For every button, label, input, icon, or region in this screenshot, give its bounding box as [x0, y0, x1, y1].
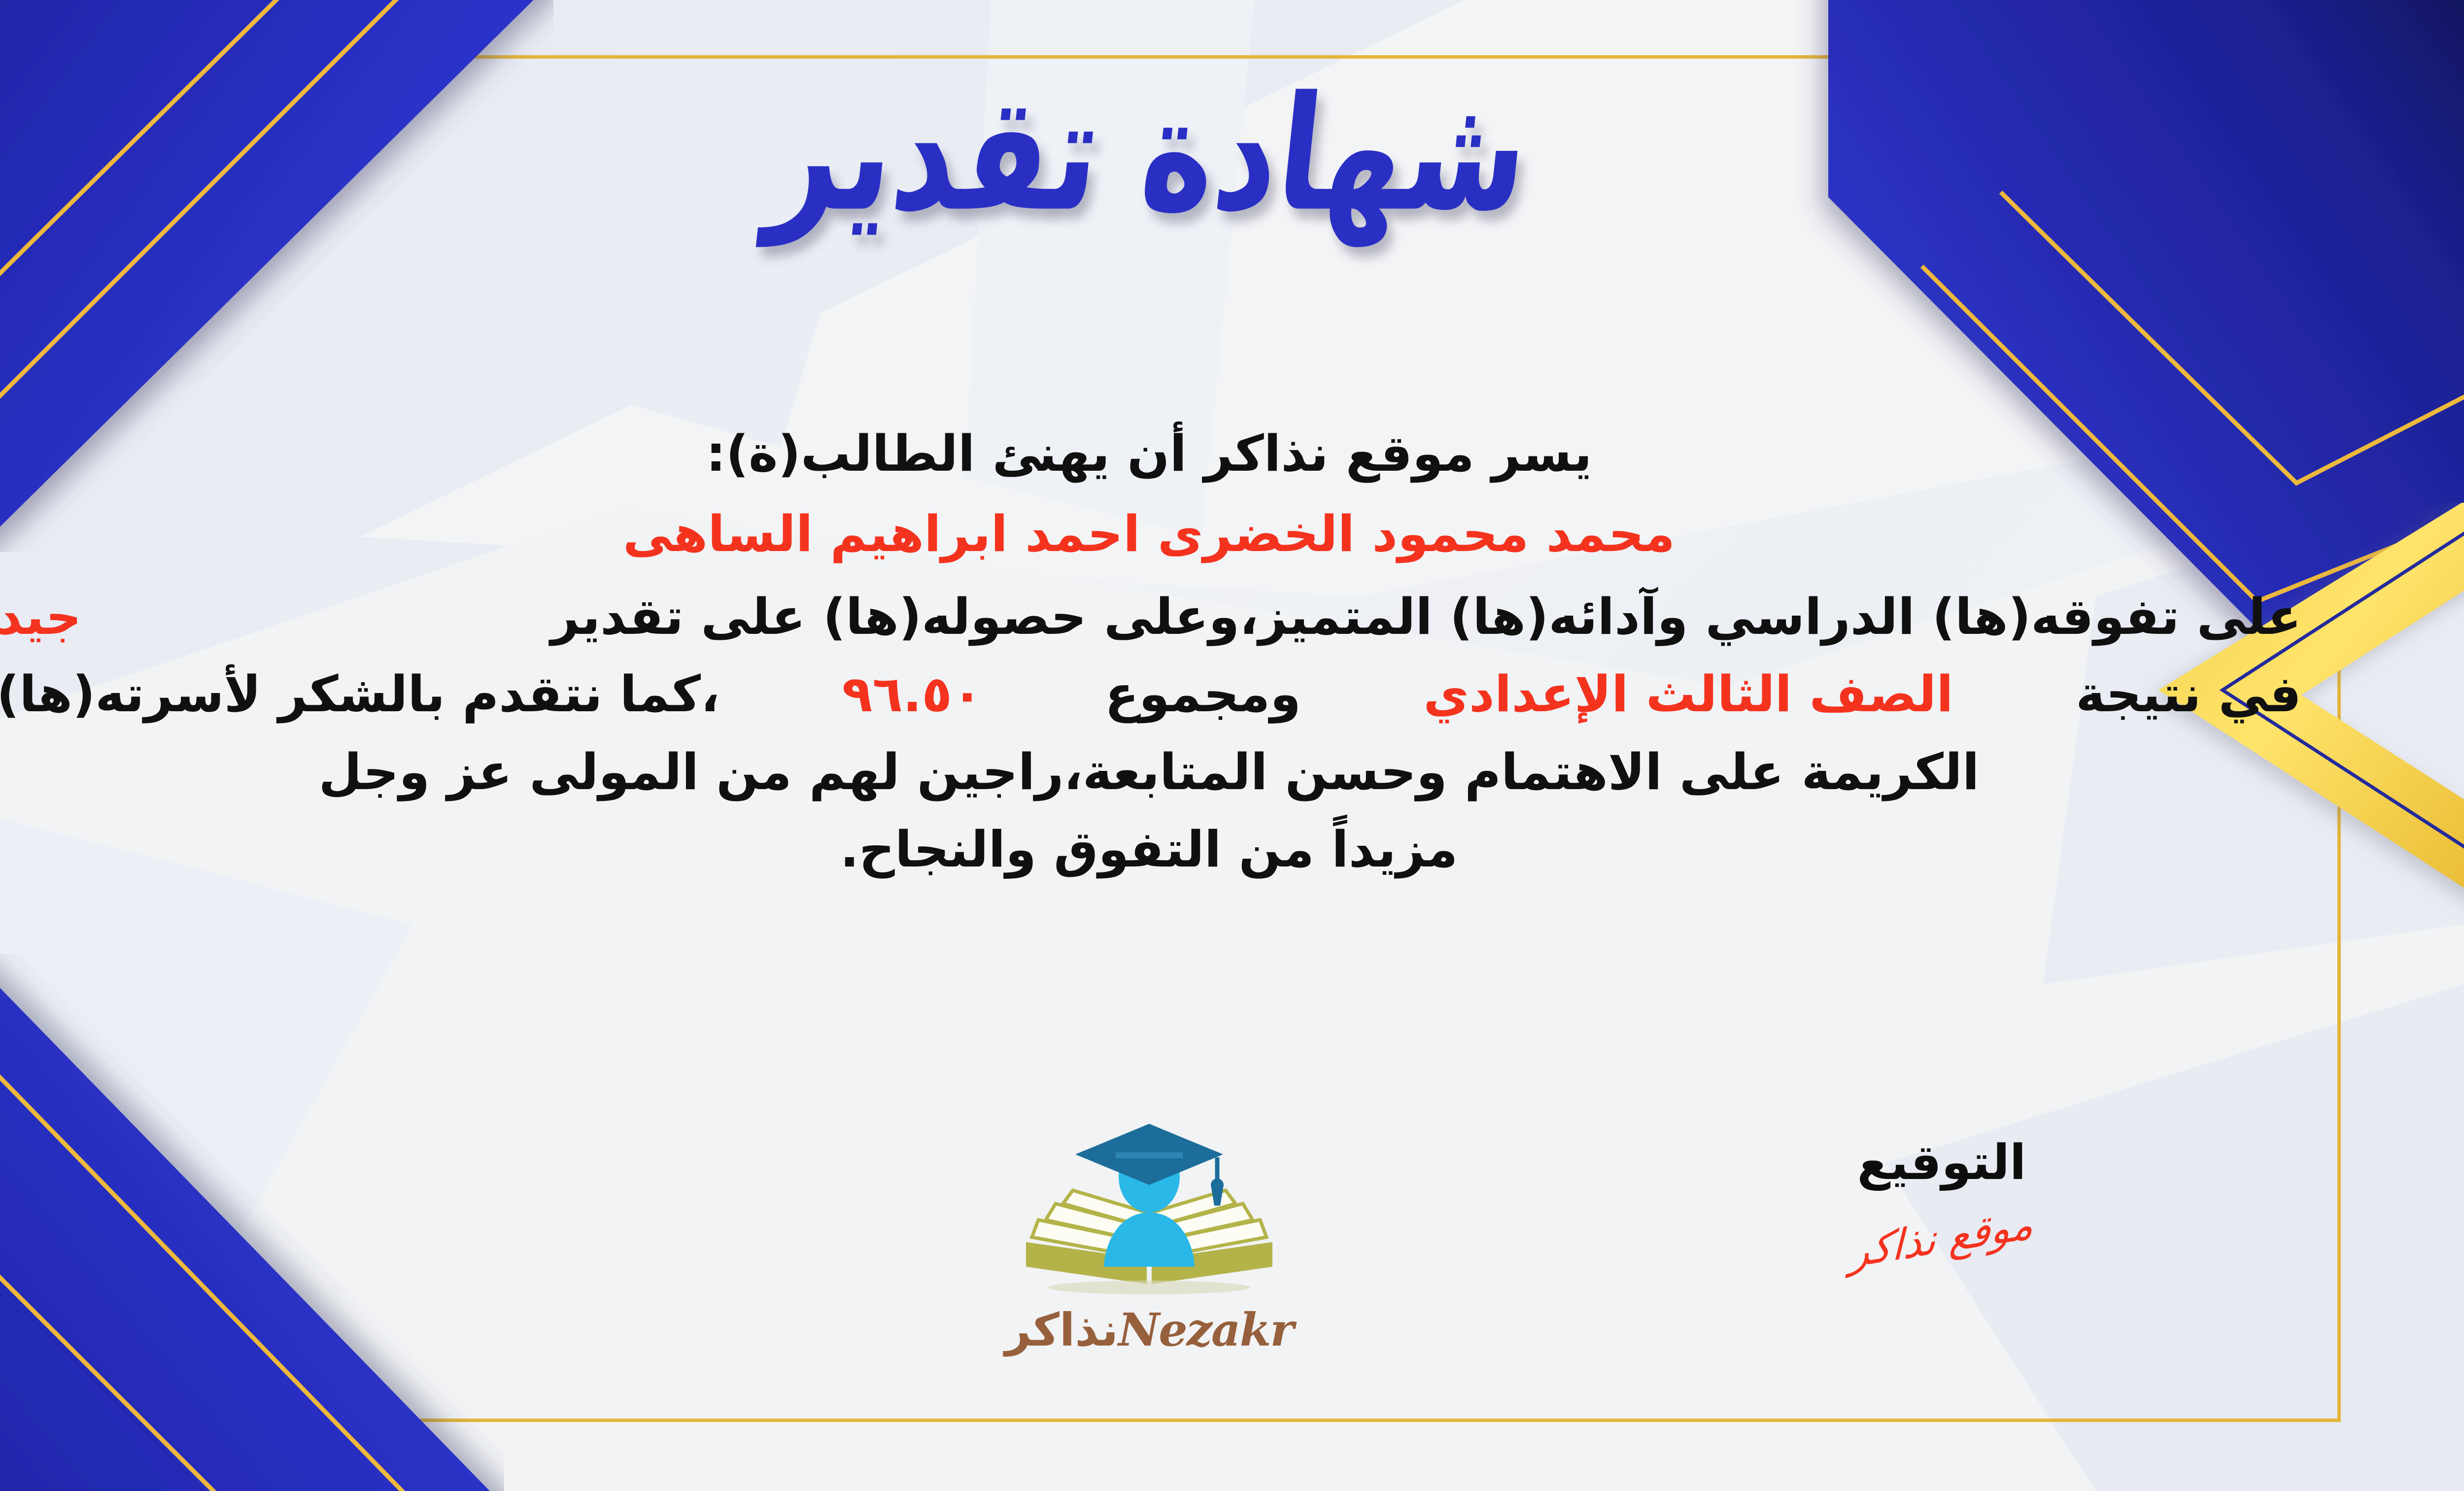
achievement-text: على تفوقه(ها) الدراسي وآدائه(ها) المتميز…	[550, 582, 2301, 652]
class-name: الصف الثالث الإعدادي	[1423, 659, 1953, 729]
brand-arabic: نذاكر	[1005, 1304, 1118, 1356]
signature-label: التوقيع	[1804, 1139, 2080, 1187]
brand-latin: Nezakr	[1118, 1303, 1293, 1356]
total-label: ومجموع	[1105, 659, 1301, 729]
result-prefix: في نتيجة	[2076, 659, 2301, 729]
signature-block: التوقيع موقع نذاكر	[1804, 1139, 2080, 1262]
brand-logo: Nezakrنذاكر	[977, 1119, 1322, 1353]
graduate-book-icon	[1011, 1119, 1287, 1316]
certificate-canvas: شهادة تقدير يسر موقع نذاكر أن يهنئ الطال…	[0, 0, 2464, 1491]
intro-line: يسر موقع نذاكر أن يهنئ الطالب(ة):	[0, 419, 2301, 488]
result-line: في نتيجة الصف الثالث الإعدادي ومجموع ٩٦.…	[0, 659, 2301, 729]
student-name: محمد محمود الخضرى احمد ابراهيم الساهى	[0, 499, 2301, 569]
family-thanks-line: الكريمة على الاهتمام وحسن المتابعة،راجين…	[0, 737, 2301, 807]
total-score: ٩٦.٥٠	[842, 659, 983, 729]
brand-wordmark: Nezakrنذاكر	[977, 1307, 1322, 1353]
certificate-title-area: شهادة تقدير	[0, 86, 2464, 222]
certificate-body: يسر موقع نذاكر أن يهنئ الطالب(ة): محمد م…	[0, 419, 2301, 884]
closing-line: مزيداً من التفوق والنجاح.	[0, 815, 2301, 884]
thanks-text: ،كما نتقدم بالشكر لأسرته(ها)	[0, 659, 719, 729]
grade-value: جيد	[0, 582, 81, 652]
achievement-line: على تفوقه(ها) الدراسي وآدائه(ها) المتميز…	[0, 582, 2301, 652]
page-title: شهادة تقدير	[761, 68, 1536, 241]
